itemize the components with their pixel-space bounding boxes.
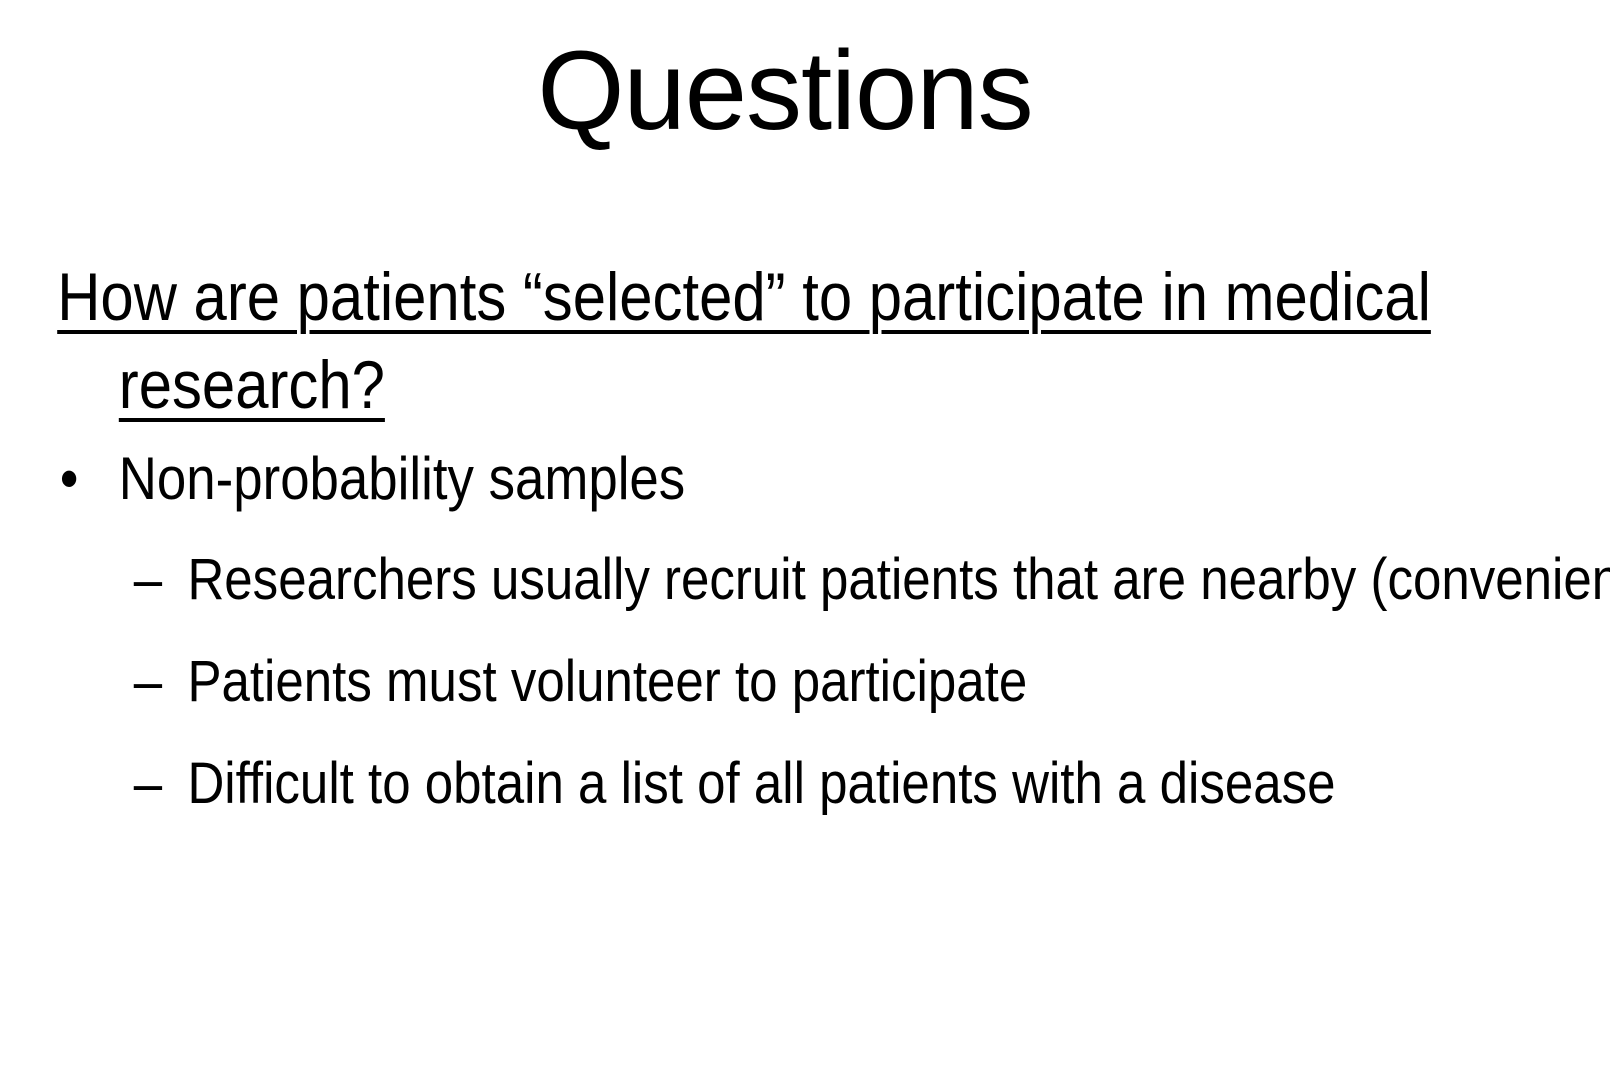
presentation-slide: Questions How are patients “selected” to… bbox=[0, 0, 1610, 1074]
bullet-level2-label: Difficult to obtain a list of all patien… bbox=[187, 751, 1335, 816]
bullet-dash-icon: – bbox=[134, 537, 182, 623]
bullet-dash-icon: – bbox=[134, 741, 182, 827]
bullet-level2-label: Researchers usually recruit patients tha… bbox=[187, 547, 1610, 612]
page-title: Questions bbox=[0, 28, 1570, 153]
question-heading-text: How are patients “selected” to participa… bbox=[57, 259, 1431, 423]
bullet-dot-icon: • bbox=[60, 437, 104, 521]
bullet-level2-label: Patients must volunteer to participate bbox=[187, 649, 1027, 714]
question-heading: How are patients “selected” to participa… bbox=[0, 253, 1610, 429]
bullet-level1-label: Non-probability samples bbox=[119, 445, 685, 512]
bullet-level2-researchers-recruit: – Researchers usually recruit patients t… bbox=[0, 537, 1610, 623]
bullet-dash-icon: – bbox=[134, 639, 182, 725]
bullet-level2-patients-volunteer: – Patients must volunteer to participate bbox=[0, 639, 1610, 725]
bullet-level1-non-probability-samples: • Non-probability samples bbox=[0, 437, 1610, 521]
bullet-level2-difficult-list: – Difficult to obtain a list of all pati… bbox=[0, 741, 1610, 827]
slide-body: How are patients “selected” to participa… bbox=[0, 253, 1610, 827]
